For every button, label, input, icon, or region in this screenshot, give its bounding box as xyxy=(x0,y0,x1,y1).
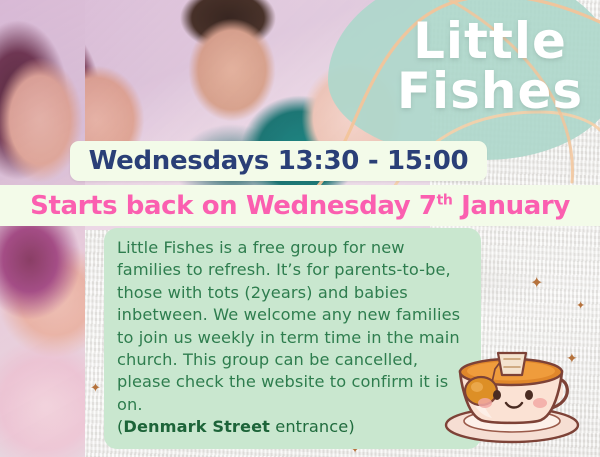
logo-little-fishes: Little Fishes xyxy=(390,18,590,114)
description-panel: Little Fishes is a free group for new fa… xyxy=(104,228,481,449)
star-decoration: ✦ xyxy=(576,300,585,311)
family-photo-left-strip xyxy=(0,0,85,457)
start-date-suffix: January xyxy=(452,191,569,221)
teacup-illustration xyxy=(434,329,594,449)
start-date-prefix: Starts back on Wednesday 7 xyxy=(30,191,436,221)
star-decoration: ✦ xyxy=(530,275,543,291)
logo-line-1: Little xyxy=(390,18,590,64)
family-photo-strip-tint xyxy=(0,0,85,457)
start-date-text: Starts back on Wednesday 7th January xyxy=(30,191,570,221)
entrance-street-name: Denmark Street xyxy=(123,417,270,436)
banner-start-date: Starts back on Wednesday 7th January xyxy=(0,185,600,226)
description-paragraph: Little Fishes is a free group for new fa… xyxy=(117,237,469,416)
poster-canvas: ✦ ✦ ✦ ✦ ✦ ✦ ✦ Little Fishes Wednesdays 1… xyxy=(0,0,600,457)
session-time-text: Wednesdays 13:30 - 15:00 xyxy=(89,146,469,176)
star-decoration: ✦ xyxy=(90,382,101,395)
entrance-note: (Denmark Street entrance) xyxy=(117,416,469,438)
logo-line-2: Fishes xyxy=(390,68,590,114)
banner-session-time: Wednesdays 13:30 - 15:00 xyxy=(70,141,487,181)
start-date-ordinal: th xyxy=(437,192,453,208)
entrance-rest: entrance) xyxy=(270,417,355,436)
